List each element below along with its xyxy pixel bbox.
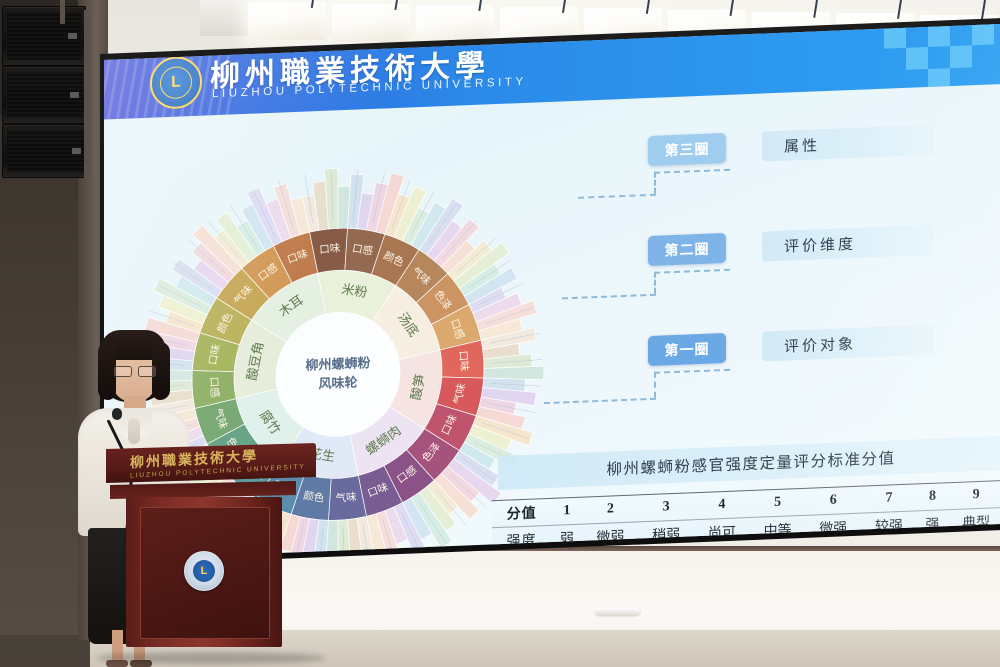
legend-row-ring2: 第二圈 评价维度 xyxy=(648,225,934,266)
legend-connector-ring1-v xyxy=(654,372,656,398)
score-table-cell: 较强 xyxy=(861,511,917,540)
score-table-cell: 3 xyxy=(638,493,694,522)
podium-emblem-letter: L xyxy=(193,560,215,582)
score-table-cell: 强 xyxy=(917,510,948,538)
score-table-title: 柳州螺蛳粉感官强度定量评分标准分值 xyxy=(498,436,1000,490)
chevron-icon xyxy=(906,47,928,70)
legend-connector-ring2-h2 xyxy=(562,294,656,300)
speaker-cabinet-1 xyxy=(2,6,86,66)
podium-column: L xyxy=(126,497,282,647)
legend-meaning-ring1: 评价对象 xyxy=(762,325,934,362)
glasses-icon xyxy=(138,366,156,377)
speaker-cabinet-3 xyxy=(2,124,90,178)
podium: 柳州職業技術大學 LIUZHOU POLYTECHNIC UNIVERSITY … xyxy=(104,443,316,667)
score-table-cell: 7 xyxy=(861,484,917,513)
logo-letter: L xyxy=(171,74,181,90)
wheel-segment-label: 口味 xyxy=(319,242,341,256)
score-table-cell: 微强 xyxy=(805,513,861,542)
score-table-cell: 1 xyxy=(551,497,582,525)
score-table-cell: 8 xyxy=(917,483,948,511)
wheel-segment-label: 口味 xyxy=(457,350,470,373)
podium-top: 柳州職業技術大學 LIUZHOU POLYTECHNIC UNIVERSITY xyxy=(104,443,316,483)
rigging-bracket-1 xyxy=(84,10,90,180)
legend-connector-ring1-h2 xyxy=(544,398,656,404)
score-table-cell: 稍弱 xyxy=(638,520,694,549)
legend-chip-ring1: 第一圈 xyxy=(648,333,726,366)
legend-row-ring1: 第一圈 评价对象 xyxy=(648,325,934,366)
microphone-icon xyxy=(112,408,122,420)
legend-connector-ring1-h xyxy=(654,369,730,374)
wheel-center-line2: 风味轮 xyxy=(305,373,370,394)
legend-meaning-ring2: 评价维度 xyxy=(762,225,934,262)
legend-connector-ring3-h2 xyxy=(578,194,656,199)
score-table-cell: 微弱 xyxy=(583,522,639,551)
presenter-neck-tie xyxy=(128,418,140,444)
legend-chip-ring3: 第三圈 xyxy=(648,133,726,166)
score-table-cell: 4 xyxy=(694,491,750,520)
score-table-cell: 2 xyxy=(583,495,639,524)
legend-connector-ring2-v xyxy=(654,272,656,294)
score-table-cell: 尚可 xyxy=(694,518,750,547)
score-table-cell: 9 xyxy=(948,480,1000,509)
logo-inner-ring: L xyxy=(160,66,192,99)
legend-meaning-ring3: 属性 xyxy=(762,125,934,162)
glasses-icon xyxy=(114,366,132,377)
chevron-icon xyxy=(928,24,950,47)
wheel-center-line1: 柳州螺蛳粉 xyxy=(305,354,370,375)
wall-handle xyxy=(595,608,640,615)
rigging-bracket-2 xyxy=(60,0,65,24)
chevron-icon xyxy=(950,45,972,68)
legend-chip-ring2: 第二圈 xyxy=(648,233,726,266)
legend-connector-ring3-h xyxy=(654,169,730,174)
speaker-cabinet-2 xyxy=(2,66,88,124)
legend-connector-ring3-v xyxy=(654,172,656,194)
legend-connector-ring2-h xyxy=(654,269,730,274)
wheel-center-label: 柳州螺蛳粉 风味轮 xyxy=(305,354,370,394)
speaker-badge xyxy=(70,92,79,98)
chevron-icon xyxy=(884,26,906,49)
score-table-row-header: 分值 xyxy=(492,498,551,527)
speaker-badge xyxy=(72,148,81,154)
speaker-badge xyxy=(68,33,77,39)
podium-emblem-icon: L xyxy=(184,551,224,591)
left-wall-panel xyxy=(0,115,82,635)
legend-row-ring3: 第三圈 属性 xyxy=(648,125,934,166)
score-table-cell: 中等 xyxy=(750,515,806,544)
chevron-icon xyxy=(972,22,994,45)
score-table-cell: 弱 xyxy=(551,524,582,552)
score-table-cell: 典型 xyxy=(948,507,1000,536)
score-table-cell: 5 xyxy=(750,488,806,517)
screenshot-root: L 柳州職業技術大學 LIUZHOU POLYTECHNIC UNIVERSIT… xyxy=(0,0,1000,667)
score-table-cell: 6 xyxy=(805,486,861,515)
score-table-row-header: 强度 xyxy=(492,525,551,554)
